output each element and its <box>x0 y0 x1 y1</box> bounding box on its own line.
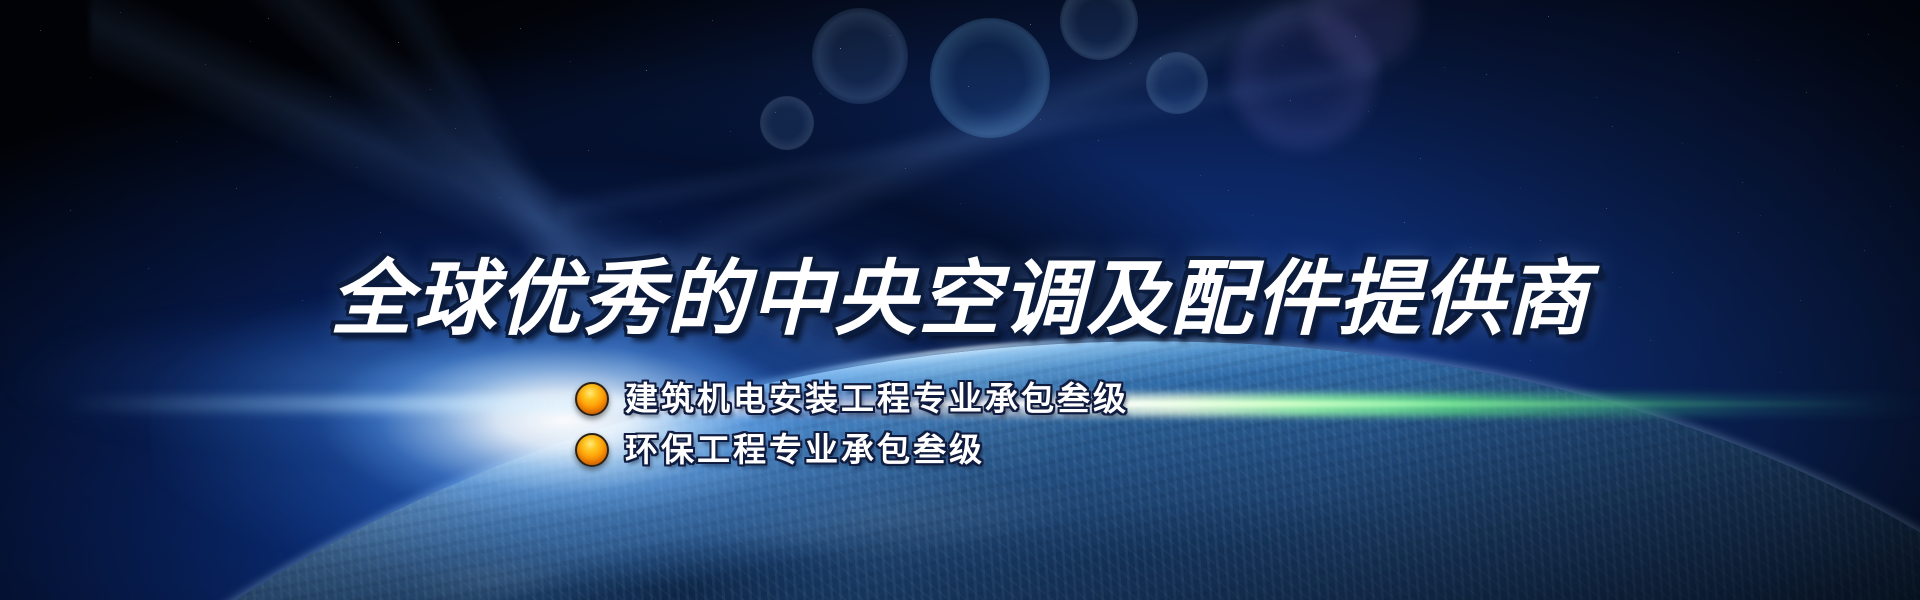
bullet-dot-icon <box>575 433 609 467</box>
bullet-dot-icon <box>575 382 609 416</box>
bullet-item-2: 环保工程专业承包叁级 <box>575 433 1129 468</box>
banner-bullet-list: 建筑机电安装工程专业承包叁级 环保工程专业承包叁级 <box>575 382 1129 467</box>
bullet-item-2-label: 环保工程专业承包叁级 <box>625 433 985 468</box>
bullet-item-1-label: 建筑机电安装工程专业承包叁级 <box>625 382 1129 417</box>
banner-content: 全球优秀的中央空调及配件提供商 建筑机电安装工程专业承包叁级 环保工程专业承包叁… <box>0 0 1920 600</box>
hero-banner: 全球优秀的中央空调及配件提供商 建筑机电安装工程专业承包叁级 环保工程专业承包叁… <box>0 0 1920 600</box>
banner-headline: 全球优秀的中央空调及配件提供商 <box>0 259 1920 341</box>
bullet-item-1: 建筑机电安装工程专业承包叁级 <box>575 382 1129 417</box>
